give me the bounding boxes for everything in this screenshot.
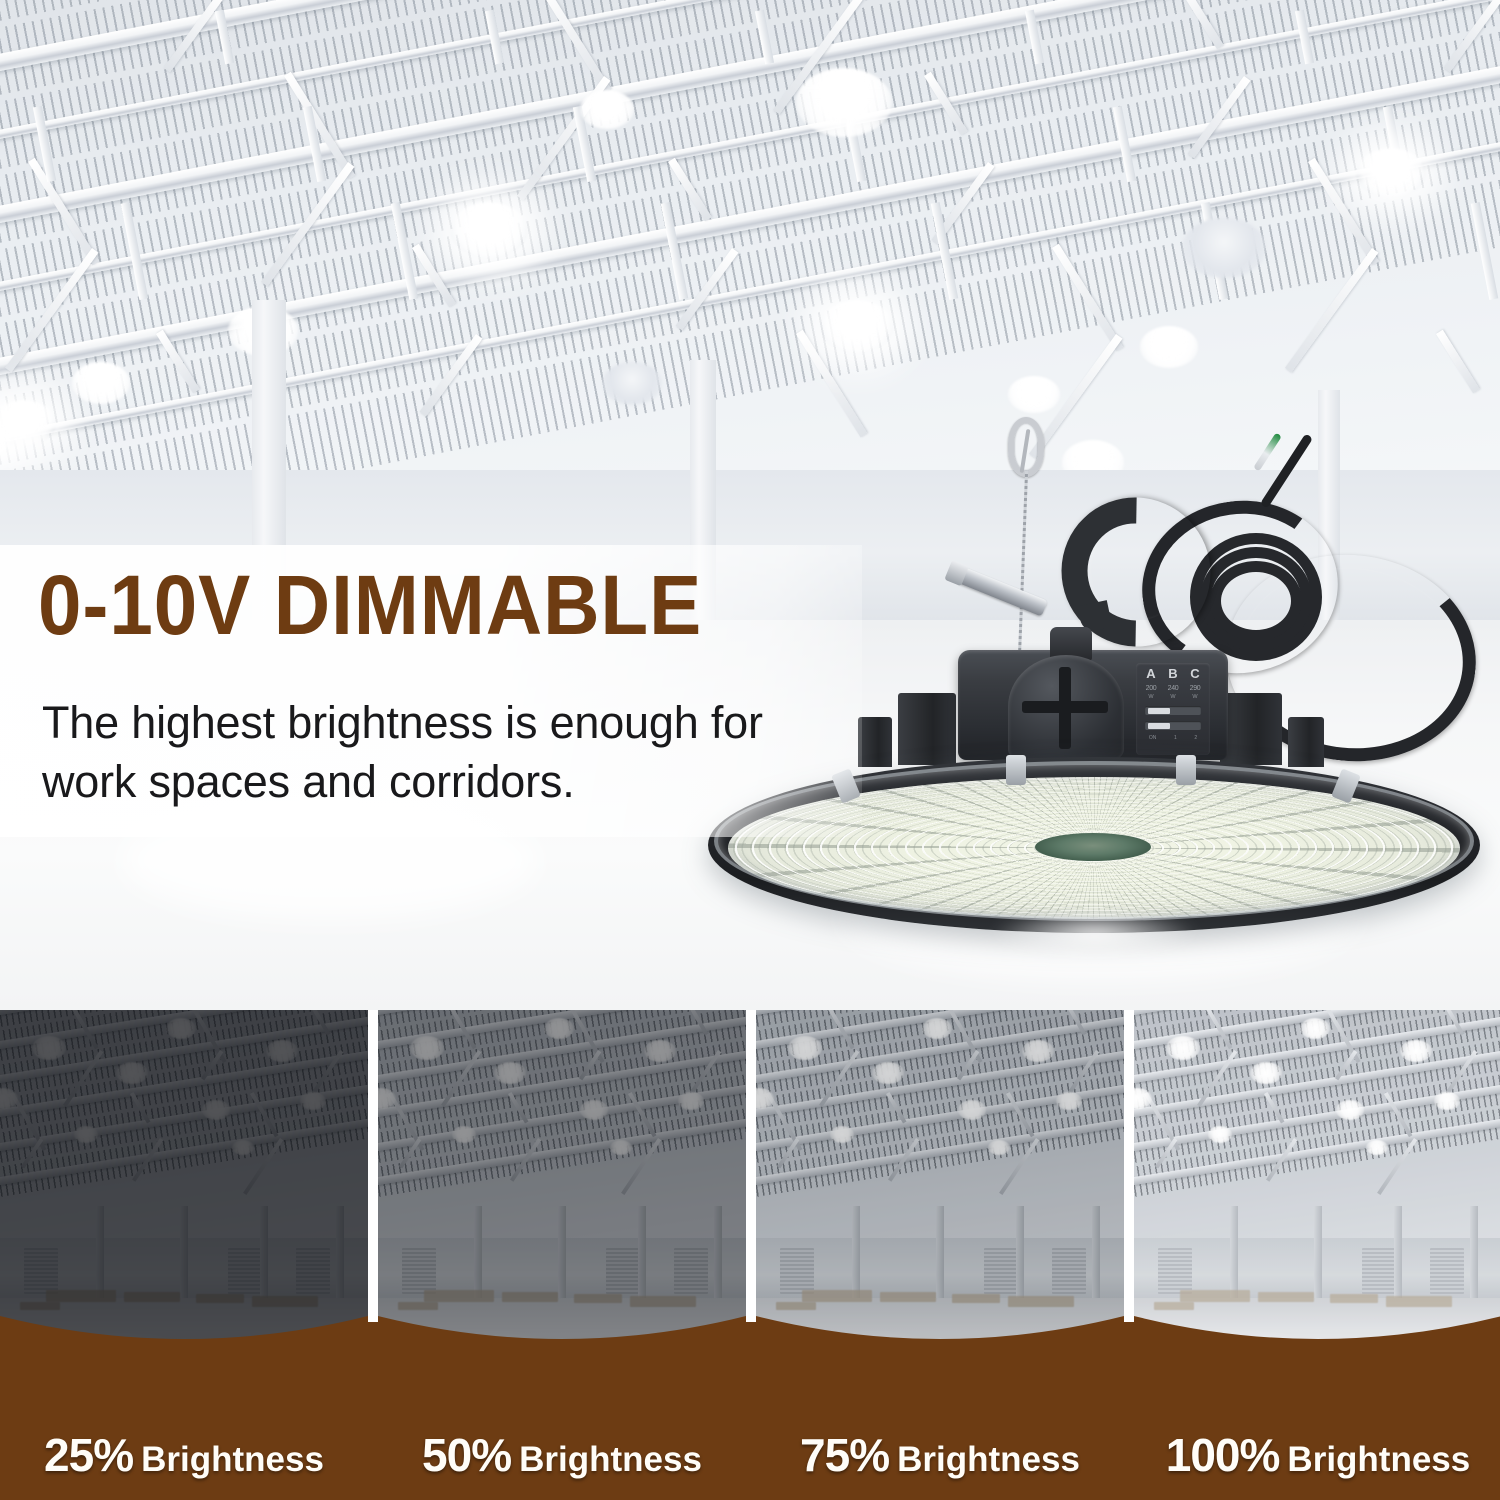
brightness-caption: 25%Brightness <box>0 1428 368 1482</box>
truss-diagonal <box>1436 330 1480 394</box>
brightness-panel[interactable]: 100%Brightness <box>1134 1010 1500 1500</box>
brightness-panel[interactable]: 25%Brightness <box>0 1010 368 1500</box>
warehouse-thumbnail <box>378 1010 746 1410</box>
dip-switch <box>1145 721 1201 730</box>
brightness-dim-overlay <box>756 1010 1124 1410</box>
ceiling-high-bay-light <box>580 90 634 129</box>
selector-unit-b: W <box>1170 694 1175 700</box>
ceiling-high-bay-light <box>602 362 662 405</box>
panel-divider <box>746 1322 756 1500</box>
selector-unit-a: W <box>1148 694 1153 700</box>
brightness-caption: 100%Brightness <box>1134 1428 1500 1482</box>
brightness-label: Brightness <box>897 1440 1080 1479</box>
brightness-dim-overlay <box>378 1010 746 1410</box>
cable-coil <box>1210 561 1302 641</box>
cross-knob-icon <box>1059 667 1071 749</box>
page-title: 0-10V DIMMABLE <box>38 567 702 644</box>
heatsink-fin <box>858 717 892 767</box>
carabiner-icon <box>1008 417 1044 477</box>
ceiling-high-bay-light <box>1140 326 1198 368</box>
wattage-selector-label: A B C 200 240 290 W W W ON12 <box>1136 663 1210 755</box>
ground-wire-green <box>1253 432 1282 471</box>
panel-divider <box>368 1322 378 1500</box>
warehouse-thumbnail <box>0 1010 368 1410</box>
dip-switch <box>1145 706 1201 715</box>
headline-overlay-panel: 0-10V DIMMABLE The highest brightness is… <box>0 545 862 837</box>
heatsink-fin <box>1288 717 1324 767</box>
brightness-panel[interactable]: 75%Brightness <box>756 1010 1124 1500</box>
subtitle: The highest brightness is enough for wor… <box>42 693 857 812</box>
selector-voltage-a: 200 <box>1146 685 1157 692</box>
selector-option-c: C <box>1190 667 1199 680</box>
ceiling-high-bay-light <box>1356 148 1426 198</box>
brightness-label: Brightness <box>519 1440 702 1479</box>
selector-units: W W W <box>1140 694 1206 700</box>
brightness-label: Brightness <box>1287 1440 1470 1479</box>
brightness-dim-overlay <box>1134 1010 1500 1410</box>
heatsink-fin <box>1220 693 1282 765</box>
selector-footer: ON12 <box>1140 735 1206 741</box>
selector-voltage-c: 290 <box>1190 685 1201 692</box>
ceiling-high-bay-light <box>796 68 892 137</box>
light-glow <box>990 910 1200 958</box>
selector-option-b: B <box>1168 667 1177 680</box>
warehouse-thumbnail <box>1134 1010 1500 1410</box>
ceiling-high-bay-light <box>72 362 130 404</box>
selector-voltages: 200 240 290 <box>1140 685 1206 692</box>
lens-bracket <box>1176 755 1196 785</box>
heatsink-fin <box>898 693 956 765</box>
selector-letters: A B C <box>1140 667 1206 680</box>
lens-bracket <box>1006 755 1026 785</box>
brightness-dim-overlay <box>0 1010 368 1410</box>
brightness-percent: 50% <box>422 1429 511 1481</box>
panel-divider <box>1124 1322 1134 1500</box>
selector-unit-c: W <box>1192 694 1197 700</box>
hero-warehouse-photo: A B C 200 240 290 W W W ON12 <box>0 0 1500 1010</box>
brightness-label: Brightness <box>141 1440 324 1479</box>
selector-option-a: A <box>1146 667 1155 680</box>
brightness-caption: 75%Brightness <box>756 1428 1124 1482</box>
brightness-comparison-strip: 100%Brightness75%Brightness50%Brightness… <box>0 1010 1500 1500</box>
brightness-percent: 100% <box>1166 1429 1280 1481</box>
product-feature-image: A B C 200 240 290 W W W ON12 <box>0 0 1500 1500</box>
ceiling-high-bay-light <box>820 300 894 353</box>
brightness-caption: 50%Brightness <box>378 1428 746 1482</box>
hook-pin <box>956 566 1048 616</box>
brightness-panel[interactable]: 50%Brightness <box>378 1010 746 1500</box>
ceiling-high-bay-light <box>1182 218 1266 278</box>
brightness-percent: 75% <box>800 1429 889 1481</box>
brightness-percent: 25% <box>44 1429 133 1481</box>
led-center-hub <box>1035 833 1151 861</box>
warehouse-thumbnail <box>756 1010 1124 1410</box>
ceiling-high-bay-light <box>450 202 528 258</box>
selector-voltage-b: 240 <box>1168 685 1179 692</box>
